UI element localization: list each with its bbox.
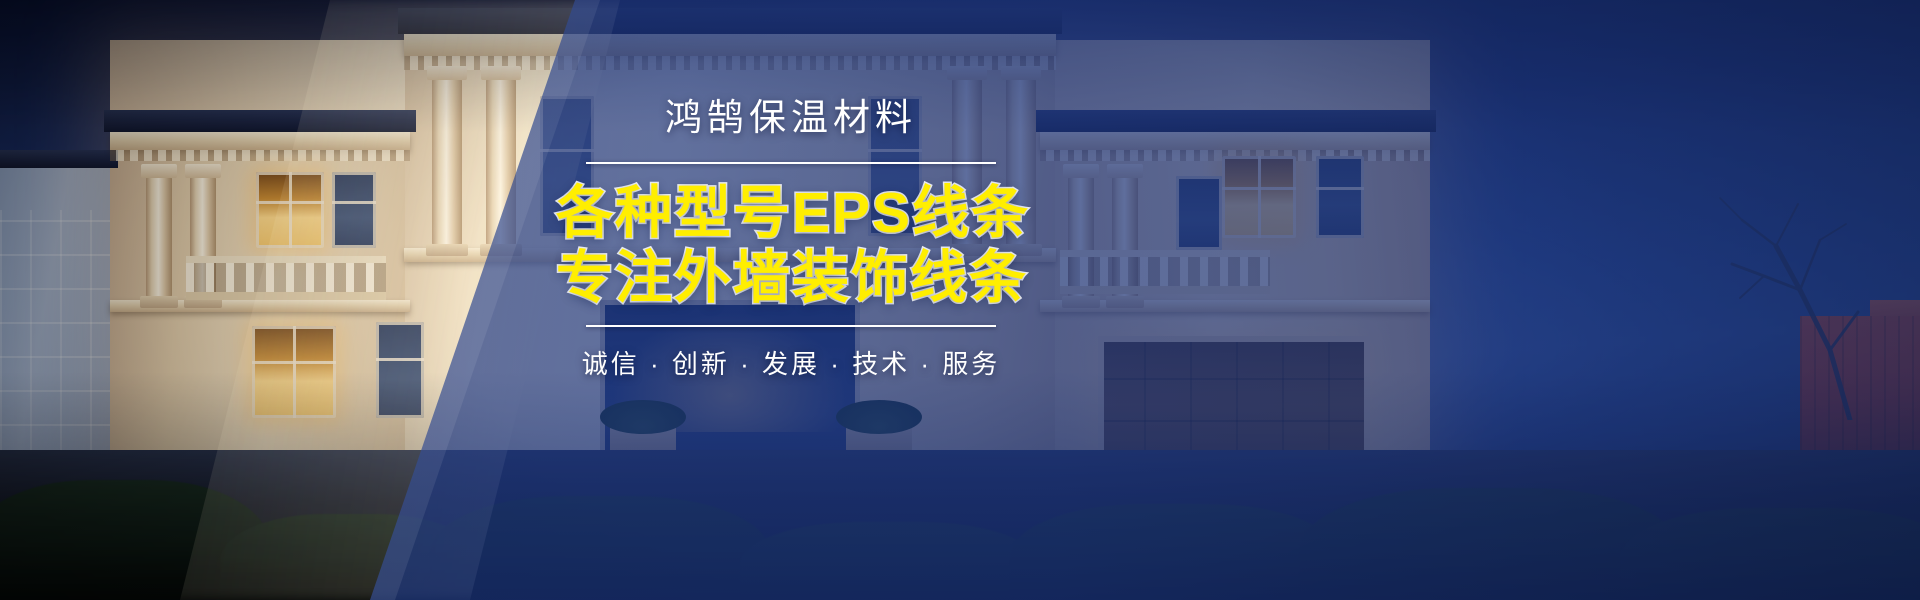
tagline: 诚信 · 创新 · 发展 · 技术 · 服务 bbox=[556, 349, 1026, 380]
hero-banner: 鸿鹄保温材料 各种型号EPS线条 专注外墙装饰线条 诚信 · 创新 · 发展 ·… bbox=[0, 0, 1920, 600]
divider-bottom bbox=[586, 325, 996, 327]
headline-line-1: 各种型号EPS线条 bbox=[556, 182, 1026, 246]
headline-line-2: 专注外墙装饰线条 bbox=[556, 247, 1026, 311]
brand-name: 鸿鹄保温材料 bbox=[556, 96, 1026, 140]
banner-text-block: 鸿鹄保温材料 各种型号EPS线条 专注外墙装饰线条 诚信 · 创新 · 发展 ·… bbox=[556, 96, 1026, 381]
divider-top bbox=[586, 162, 996, 164]
